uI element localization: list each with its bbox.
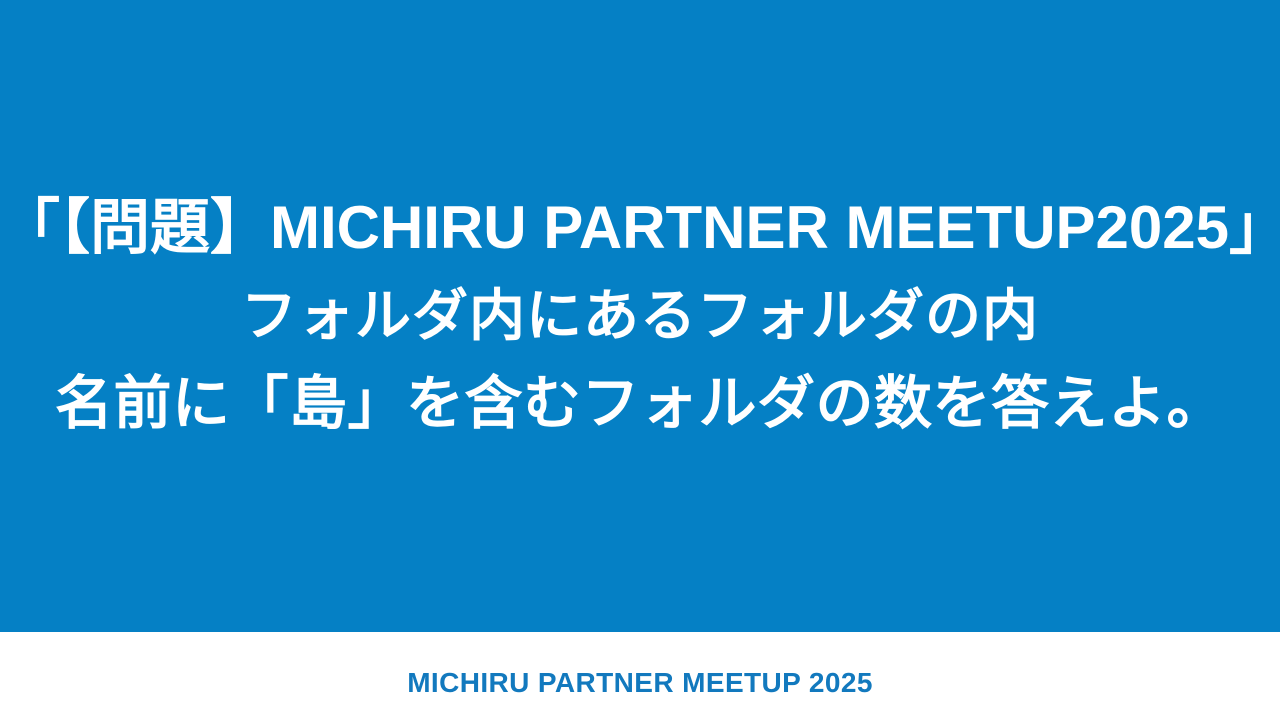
slide-hero-panel: 「【問題】MICHIRU PARTNER MEETUP2025」 フォルダ内にあ… [0, 0, 1280, 632]
presentation-slide: 「【問題】MICHIRU PARTNER MEETUP2025」 フォルダ内にあ… [0, 0, 1280, 720]
footer-event-title: MICHIRU PARTNER MEETUP 2025 [407, 669, 873, 697]
slide-footer: MICHIRU PARTNER MEETUP 2025 [0, 632, 1280, 720]
question-line-3: 名前に「島」を含むフォルダの数を答えよ。 [0, 360, 1280, 448]
slide-question-block: 「【問題】MICHIRU PARTNER MEETUP2025」 フォルダ内にあ… [0, 184, 1280, 448]
question-line-2: フォルダ内にあるフォルダの内 [0, 272, 1280, 360]
question-line-1: 「【問題】MICHIRU PARTNER MEETUP2025」 [0, 184, 1280, 272]
